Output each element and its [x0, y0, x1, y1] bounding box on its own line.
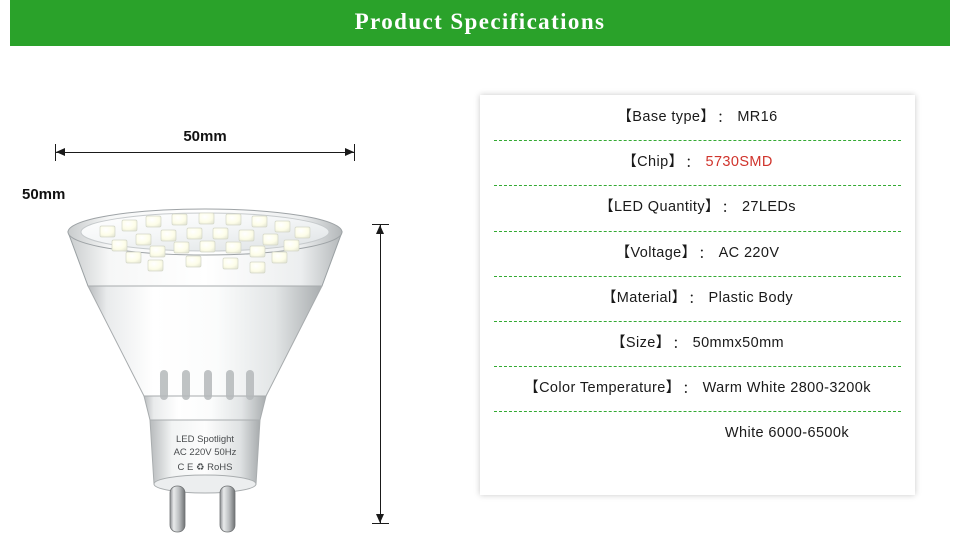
spec-value: AC 220V: [719, 231, 780, 276]
bulb-print-line1: LED Spotlight: [176, 434, 234, 445]
width-dimension-line: [55, 152, 355, 153]
product-figure: 50mm 50mm: [0, 46, 470, 542]
spec-row: 【Chip】 ： 5730SMD: [480, 140, 915, 185]
led-spotlight-image: LED Spotlight AC 220V 50Hz C E ♻ RoHS: [60, 174, 350, 534]
spec-label: 【Chip】: [622, 140, 683, 185]
width-cap-right: [354, 144, 355, 161]
spec-colon: ：: [717, 95, 730, 140]
spec-value: White 6000-6500k: [725, 411, 849, 456]
height-dimension-label: 50mm: [22, 186, 65, 203]
width-arrow-right-icon: [345, 148, 354, 156]
spec-value: MR16: [737, 95, 777, 140]
spec-label: 【Size】: [611, 321, 671, 366]
width-dimension-marker: 50mm: [55, 132, 355, 162]
spec-label: 【Color Temperature】: [524, 366, 680, 411]
spec-colon: ：: [673, 321, 686, 366]
spec-colon: ：: [683, 366, 696, 411]
header-banner: Product Specifications: [0, 0, 960, 46]
spec-label: 【Material】: [602, 276, 687, 321]
height-arrow-up-icon: [376, 225, 384, 234]
specifications-panel: 【Base type】 ： MR16 【Chip】 ： 5730SMD 【LED…: [480, 95, 915, 495]
spec-row: White 6000-6500k: [480, 411, 915, 456]
spec-value: 27LEDs: [742, 185, 796, 230]
spec-row: 【LED Quantity】 ： 27LEDs: [480, 185, 915, 230]
height-dimension-marker: [376, 224, 406, 524]
specifications-list: 【Base type】 ： MR16 【Chip】 ： 5730SMD 【LED…: [480, 95, 915, 457]
spec-label: 【Base type】: [617, 95, 715, 140]
spec-value: Warm White 2800-3200k: [703, 366, 871, 411]
spec-row: 【Size】 ： 50mmx50mm: [480, 321, 915, 366]
spec-label: 【LED Quantity】: [599, 185, 720, 230]
spec-value: 50mmx50mm: [693, 321, 784, 366]
spec-colon: ：: [722, 185, 735, 230]
spec-row: 【Voltage】 ： AC 220V: [480, 231, 915, 276]
spec-row: 【Color Temperature】 ： Warm White 2800-32…: [480, 366, 915, 411]
bulb-print-line3: C E ♻ RoHS: [178, 462, 233, 473]
height-arrow-down-icon: [376, 514, 384, 523]
spec-colon: ：: [685, 140, 698, 185]
width-dimension-label: 50mm: [55, 128, 355, 145]
page-title: Product Specifications: [0, 0, 960, 46]
spec-value: 5730SMD: [705, 140, 772, 185]
spec-value: Plastic Body: [709, 276, 794, 321]
spec-row: 【Material】 ： Plastic Body: [480, 276, 915, 321]
spec-colon: ：: [699, 231, 712, 276]
spec-colon: ：: [688, 276, 701, 321]
height-dimension-line: [380, 224, 381, 524]
width-arrow-left-icon: [56, 148, 65, 156]
bulb-print-line2: AC 220V 50Hz: [174, 447, 237, 458]
height-cap-bottom: [372, 523, 389, 524]
spec-label: 【Voltage】: [616, 231, 697, 276]
spec-row: 【Base type】 ： MR16: [480, 95, 915, 140]
